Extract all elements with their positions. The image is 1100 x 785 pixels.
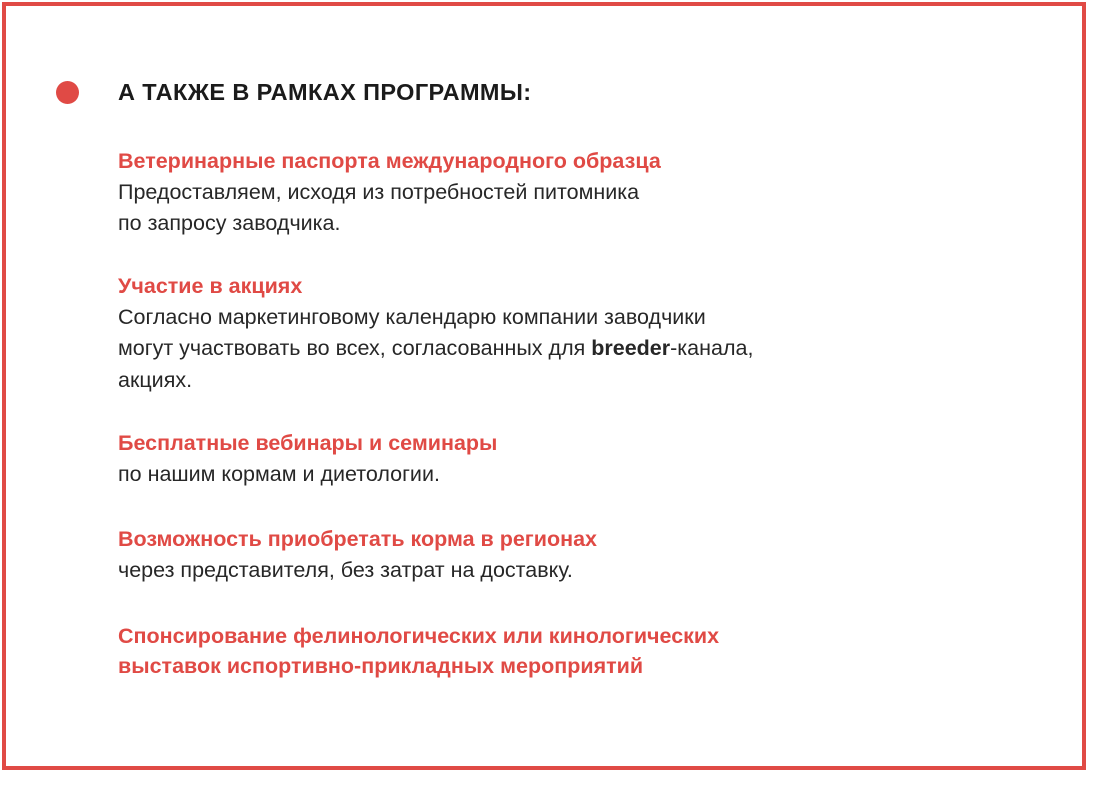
benefit-title: Спонсирование фелинологических или кинол…: [118, 622, 1018, 652]
section-heading: А ТАКЖЕ В РАМКАХ ПРОГРАММЫ:: [56, 81, 532, 105]
page-title: А ТАКЖЕ В РАМКАХ ПРОГРАММЫ:: [118, 81, 532, 105]
benefit-description-line: по запросу заводчика.: [118, 208, 1018, 239]
benefit-description-line: по нашим кормам и диетологии.: [118, 459, 1018, 490]
slide: А ТАКЖЕ В РАМКАХ ПРОГРАММЫ: Ветеринарные…: [0, 0, 1100, 785]
benefit-description-tail: -канала,: [670, 336, 753, 360]
benefit-title-continuation: выставок испортивно-прикладных мероприят…: [118, 652, 1018, 682]
list-item: Ветеринарные паспорта международного обр…: [118, 147, 1018, 239]
benefit-description-line: акциях.: [118, 365, 1018, 396]
breeder-keyword: breeder: [591, 336, 670, 360]
benefit-description-line: могут участвовать во всех, согласованных…: [118, 333, 1018, 364]
benefit-title: Участие в акциях: [118, 272, 1018, 302]
benefit-title: Бесплатные вебинары и семинары: [118, 429, 1018, 459]
slide-content: А ТАКЖЕ В РАМКАХ ПРОГРАММЫ: Ветеринарные…: [0, 0, 1100, 785]
list-item: Спонсирование фелинологических или кинол…: [118, 622, 1018, 681]
bullet-dot-icon: [56, 81, 79, 104]
benefit-title: Возможность приобретать корма в регионах: [118, 525, 1018, 555]
benefit-description-line: через представителя, без затрат на доста…: [118, 555, 1018, 586]
benefit-description-segment: могут участвовать во всех, согласованных…: [118, 336, 591, 360]
program-benefits-list: Ветеринарные паспорта международного обр…: [118, 147, 1018, 682]
benefit-description-line: Согласно маркетинговому календарю компан…: [118, 302, 1018, 333]
list-item: Возможность приобретать корма в регионах…: [118, 525, 1018, 586]
benefit-title: Ветеринарные паспорта международного обр…: [118, 147, 1018, 177]
benefit-description-line: Предоставляем, исходя из потребностей пи…: [118, 177, 1018, 208]
list-item: Участие в акциях Согласно маркетинговому…: [118, 272, 1018, 396]
list-item: Бесплатные вебинары и семинары по нашим …: [118, 429, 1018, 490]
